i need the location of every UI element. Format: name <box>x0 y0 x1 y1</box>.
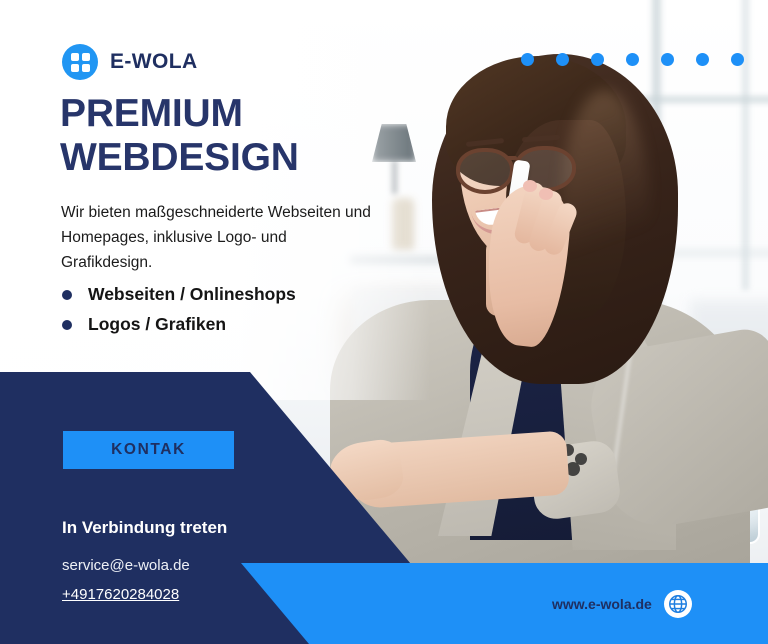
list-item: Logos / Grafiken <box>62 314 296 335</box>
decor-dot <box>591 53 604 66</box>
kontak-button[interactable]: KONTAK <box>63 431 234 469</box>
page-title: PREMIUM WEBDESIGN <box>60 92 299 179</box>
bullet-dot-icon <box>62 290 72 300</box>
list-item-label: Logos / Grafiken <box>88 314 226 335</box>
contact-email-link[interactable]: service@e-wola.de <box>62 557 190 574</box>
decor-dot <box>521 53 534 66</box>
decor-dot <box>661 53 674 66</box>
feature-list: Webseiten / Onlineshops Logos / Grafiken <box>62 284 296 344</box>
promo-banner: E-WOLA PREMIUM WEBDESIGN Wir bieten maßg… <box>0 0 768 644</box>
globe-icon <box>664 590 692 618</box>
headline-line-1: PREMIUM <box>60 92 243 135</box>
grid-squares-icon <box>62 44 98 80</box>
decor-dot <box>696 53 709 66</box>
contact-phone-link[interactable]: +4917620284028 <box>62 586 179 603</box>
hero-subtitle: Wir bieten maßgeschneiderte Webseiten un… <box>61 200 381 275</box>
decor-dot <box>626 53 639 66</box>
list-item: Webseiten / Onlineshops <box>62 284 296 305</box>
decorative-dots <box>521 53 744 66</box>
contact-heading: In Verbindung treten <box>62 518 227 538</box>
bullet-dot-icon <box>62 320 72 330</box>
headline-line-2: WEBDESIGN <box>60 136 299 179</box>
list-item-label: Webseiten / Onlineshops <box>88 284 296 305</box>
brand-name: E-WOLA <box>110 50 198 74</box>
brand-logo[interactable]: E-WOLA <box>62 44 198 80</box>
website-footer[interactable]: www.e-wola.de <box>552 590 692 618</box>
decor-dot <box>556 53 569 66</box>
decor-dot <box>731 53 744 66</box>
website-url: www.e-wola.de <box>552 596 652 612</box>
